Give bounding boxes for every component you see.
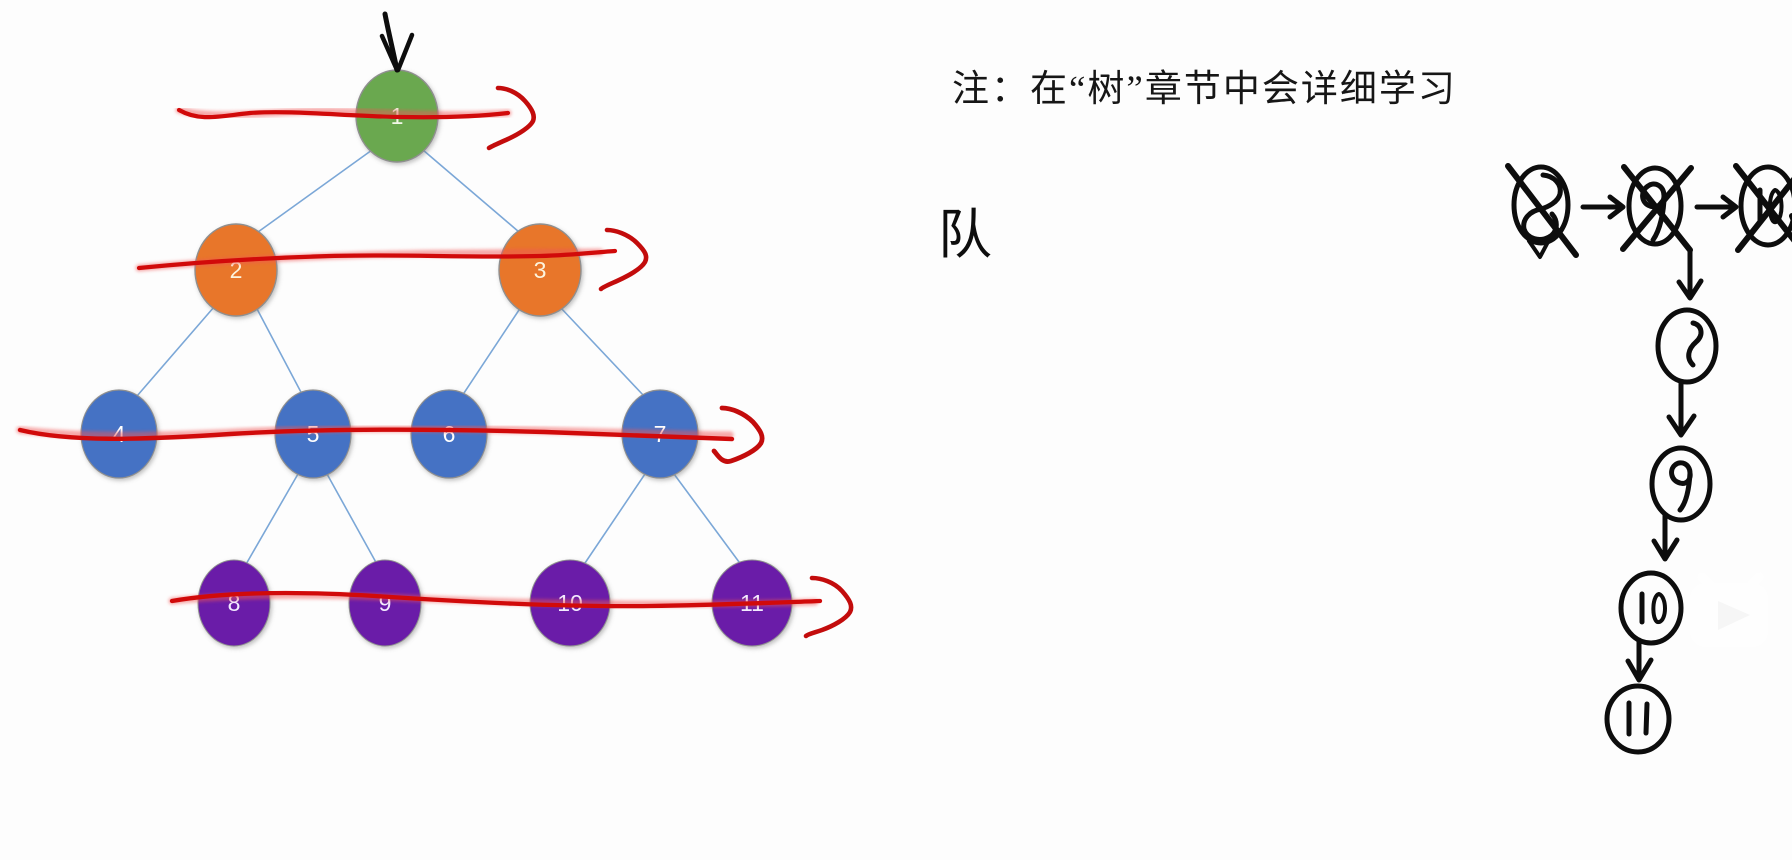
node-shape-5: [275, 390, 351, 478]
circled-11: [1607, 686, 1669, 752]
tree-node-8[interactable]: 8: [198, 560, 270, 646]
whiteboard-canvas: 1 2 3 4 5 6 7: [0, 0, 1792, 860]
tree-node-2[interactable]: 2: [195, 224, 277, 316]
crossed-circled-10: [1736, 166, 1792, 250]
edge-5-8: [245, 474, 298, 566]
node-shape-6: [411, 390, 487, 478]
root-entry-arrow-icon: [382, 14, 412, 70]
circled-8: [1658, 310, 1716, 382]
tree-nodes: 1 2 3 4 5 6 7: [81, 70, 792, 646]
level-4-arrowhead: [806, 578, 851, 636]
down-arrow-top: [1679, 251, 1701, 298]
level-2-arrowhead: [601, 230, 646, 289]
edge-1-3: [423, 150, 519, 232]
tree-node-3[interactable]: 3: [499, 224, 581, 316]
arrow-8-to-9: [1583, 197, 1623, 217]
tree-node-5[interactable]: 5: [275, 390, 351, 478]
circled-9-digit: [1672, 463, 1691, 510]
down-arrow-9-10: [1654, 515, 1677, 559]
node-shape-3: [499, 224, 581, 316]
crossed-circled-9: [1623, 167, 1691, 250]
circled-10-zero: [1653, 594, 1665, 622]
node-shape-8: [198, 560, 270, 646]
edge-1-2: [258, 150, 372, 232]
tree-node-6[interactable]: 6: [411, 390, 487, 478]
bilibili-watermark-icon: [1690, 577, 1768, 647]
root-arrow-head-right: [398, 35, 412, 70]
down-arrow-8-9: [1669, 383, 1694, 435]
handwritten-queue-label: 队: [938, 190, 992, 269]
circled-8-digit: [1689, 323, 1701, 365]
diagram-svg: 1 2 3 4 5 6 7: [0, 0, 1792, 860]
circled-11-second-one: [1646, 704, 1647, 733]
tree-edges: [137, 150, 742, 566]
node-shape-2: [195, 224, 277, 316]
down-arrow-10-11: [1628, 640, 1651, 680]
edge-3-7: [560, 307, 644, 396]
edge-7-11: [674, 474, 742, 566]
circled-8-ring: [1658, 310, 1716, 382]
arrow-9-to-10: [1697, 197, 1736, 217]
handwritten-crossed-sequence: [1508, 166, 1792, 257]
circled-11-ring: [1607, 686, 1669, 752]
level-1-arrowhead: [489, 88, 534, 148]
node-shape-9: [349, 560, 421, 646]
edge-2-4: [137, 307, 214, 396]
note-caption: 注：在“树”章节中会详细学习: [952, 58, 1457, 112]
edge-5-9: [327, 474, 378, 566]
circled-10: [1621, 573, 1681, 643]
circled-9: [1652, 448, 1710, 520]
edge-2-5: [256, 307, 303, 396]
circled-10-ring: [1621, 573, 1681, 643]
digit-8-upper: [1541, 175, 1560, 209]
handwritten-vertical-sequence: [1607, 251, 1716, 752]
crossed-circled-8: [1508, 166, 1576, 257]
tree-node-9[interactable]: 9: [349, 560, 421, 646]
edge-3-6: [462, 307, 521, 396]
edge-7-10: [583, 474, 645, 566]
